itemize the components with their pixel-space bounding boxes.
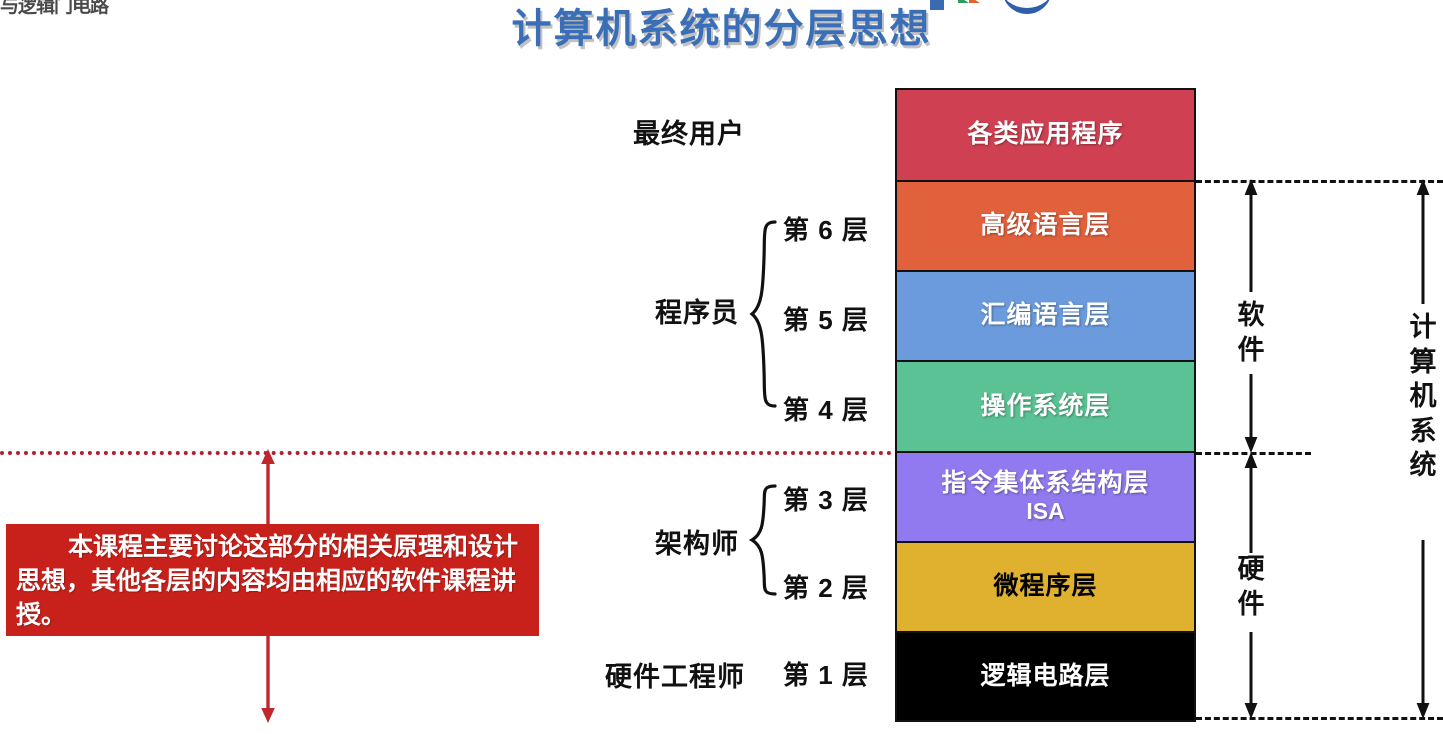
layer-sublabel: ISA: [1026, 498, 1064, 525]
red-dashed-divider: [0, 451, 972, 455]
software-arrow-down: [1240, 374, 1262, 454]
slide-canvas: 与逻辑门电路 计算机系统的分层思想 各类应用程序 高级语言层 汇编语言层 操作系…: [0, 0, 1443, 734]
level-6-label: 第 6 层: [783, 210, 869, 247]
black-dashed-top-guide: [1196, 180, 1443, 183]
computer-system-label: 计算机系统: [1406, 310, 1440, 483]
layer-assembly-language[interactable]: 汇编语言层: [897, 272, 1194, 362]
layer-logic-circuit[interactable]: 逻辑电路层: [897, 633, 1194, 720]
role-architect: 架构师: [655, 522, 739, 561]
layer-application[interactable]: 各类应用程序: [897, 90, 1194, 182]
page-title: 计算机系统的分层思想: [0, 0, 1443, 54]
hardware-arrow-down: [1240, 632, 1262, 720]
role-end-user: 最终用户: [633, 112, 745, 151]
level-4-label: 第 4 层: [783, 390, 869, 427]
black-dashed-bottom-guide: [1196, 717, 1443, 720]
layer-label: 操作系统层: [980, 392, 1110, 422]
architect-brace-icon: [748, 482, 780, 598]
programmer-brace-icon: [748, 218, 780, 410]
role-hardware-engineer: 硬件工程师: [605, 655, 745, 694]
software-label: 软件: [1234, 298, 1268, 367]
layer-label: 微程序层: [993, 572, 1097, 602]
layer-label: 高级语言层: [980, 211, 1110, 241]
hardware-arrow-up: [1240, 451, 1262, 555]
level-1-label: 第 1 层: [783, 655, 869, 692]
layer-label: 指令集体系结构层: [941, 469, 1149, 499]
level-3-label: 第 3 层: [783, 480, 869, 517]
layer-isa[interactable]: 指令集体系结构层 ISA: [897, 453, 1194, 543]
role-programmer: 程序员: [655, 291, 739, 330]
level-5-label: 第 5 层: [783, 300, 869, 337]
software-arrow-up: [1240, 178, 1262, 294]
layer-high-level-language[interactable]: 高级语言层: [897, 182, 1194, 272]
layer-label: 各类应用程序: [967, 120, 1123, 150]
layer-label: 汇编语言层: [980, 301, 1110, 331]
layer-operating-system[interactable]: 操作系统层: [897, 362, 1194, 453]
layer-stack: 各类应用程序 高级语言层 汇编语言层 操作系统层 指令集体系结构层 ISA 微程…: [895, 88, 1196, 722]
layer-microprogram[interactable]: 微程序层: [897, 543, 1194, 633]
layer-label: 逻辑电路层: [980, 662, 1110, 692]
callout-box: 本课程主要讨论这部分的相关原理和设计思想，其他各层的内容均由相应的软件课程讲授。: [6, 524, 539, 636]
computer-system-arrow-down: [1412, 540, 1434, 720]
computer-system-arrow-up: [1412, 178, 1434, 306]
hardware-label: 硬件: [1234, 552, 1268, 621]
level-2-label: 第 2 层: [783, 568, 869, 605]
